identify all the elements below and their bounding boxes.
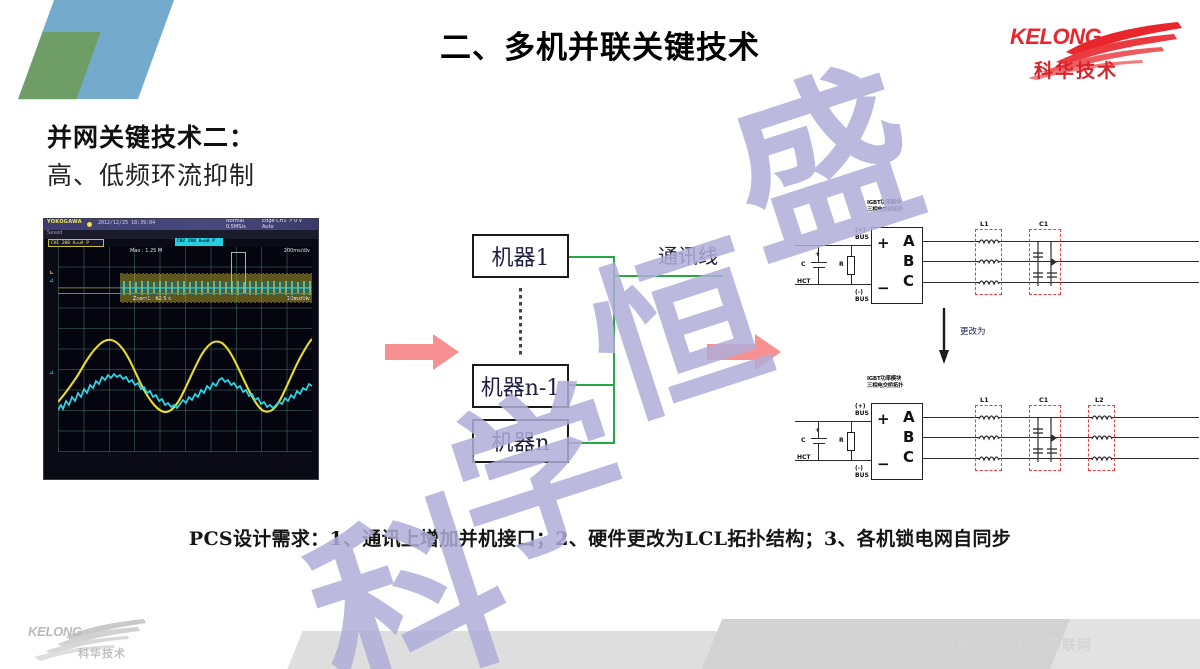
inductor-l1-label-top: L1 xyxy=(980,220,989,228)
scope-zoom-region-box xyxy=(231,252,246,294)
change-to-arrow xyxy=(938,308,954,369)
igbt-title-line1-bottom: IGBT功率模块 xyxy=(867,376,901,382)
igbt-phase-c-top: C xyxy=(903,272,914,290)
scope-datetime: 2012/12/25 18:39:04 xyxy=(98,220,155,226)
trace-zoom-window xyxy=(58,339,312,412)
bus-wire-from-boxn1 xyxy=(569,384,615,386)
footer-brand-chinese: 科华技术 xyxy=(78,645,126,661)
bus-neg-label-bottom: (-) BUS xyxy=(855,466,869,479)
machine-box-n-minus-1[interactable]: 机器n-1 xyxy=(472,364,569,408)
resistor-symbol-bottom xyxy=(847,432,855,451)
cap-stem-up-bottom xyxy=(818,421,819,438)
bus-neg-label-top: (-) BUS xyxy=(855,290,869,303)
subtitle-primary: 并网关键技术二： xyxy=(47,118,255,154)
res-stem-up-top xyxy=(851,245,852,256)
scope-vendor-label: YOKOGAWA xyxy=(47,219,82,225)
bus-wire-from-boxn xyxy=(569,442,615,444)
igbt-module-title-top: IGBT功率模块 三相电交桥拓扑 xyxy=(867,200,903,213)
bus-pos-label-bottom: (+) BUS xyxy=(855,404,869,417)
machine-box-n[interactable]: 机器n xyxy=(472,419,569,463)
brand-logo: KELONG 科华技术 xyxy=(1006,18,1182,84)
igbt-title-line2-top: 三相电交桥拓扑 xyxy=(867,207,903,213)
res-stem-up-bottom xyxy=(851,421,852,432)
igbt-phase-a-top: A xyxy=(903,232,915,250)
down-arrow-icon xyxy=(938,308,954,364)
inductor-l2-coils-bottom xyxy=(1088,405,1115,471)
igbt-phase-b-top: B xyxy=(903,252,914,270)
scope-waveform-traces xyxy=(58,247,312,452)
inductor-l1-coils-bottom xyxy=(975,405,1002,471)
dc-pos-rail-bottom xyxy=(795,421,872,422)
hct-label-top: HCT xyxy=(797,278,811,285)
bus-wire-trunk xyxy=(613,256,615,444)
igbt-minus-terminal-top: − xyxy=(877,279,890,297)
scope-status-dot-icon xyxy=(87,222,92,227)
cap-stem-down-top xyxy=(818,267,819,285)
igbt-phase-c-bottom: C xyxy=(903,448,914,466)
flow-arrow-2 xyxy=(707,333,781,371)
scope-timebase-main: 200ms/div xyxy=(284,248,310,254)
cap-label-top: C xyxy=(801,261,805,268)
scope-ch1-badge: CH1 200 A=uA P xyxy=(48,239,104,247)
scope-zoom-marker-icon: ⊿ xyxy=(49,369,54,376)
brand-word: KELONG xyxy=(1010,24,1101,50)
res-label-bottom: R xyxy=(839,437,844,444)
scope-trigger-label: Edge CH1 ↗ 0 V Auto xyxy=(262,219,302,230)
subtitle-secondary: 高、低频环流抑制 xyxy=(47,156,255,192)
scope-graticule: Max : 1.25 M 200ms/div Zoom1 : 62.5 k 10… xyxy=(58,247,312,452)
dc-pos-rail-top xyxy=(795,245,872,246)
capacitor-c1-symbols-top xyxy=(1029,229,1061,295)
scope-ch2-marker-icon: ⊿ xyxy=(49,277,54,284)
slide-footer: KELONG 科华技术 打造生态型能源互联网 xyxy=(0,613,1200,669)
oscilloscope-screenshot: YOKOGAWA 2012/12/25 18:39:04 Normal 0.5M… xyxy=(43,218,319,480)
bus-pos-label-top: (+) BUS xyxy=(855,228,869,241)
igbt-title-line2-bottom: 三相电交桥拓扑 xyxy=(867,383,903,389)
circuit-diagram-bottom: IGBT功率模块 三相电交桥拓扑 C + HCT R (+) BUS (-) B… xyxy=(795,376,1199,498)
capacitor-c1-label-bottom: C1 xyxy=(1039,396,1048,404)
cap-plate-a-top xyxy=(811,262,827,263)
scope-saved-label: Saved xyxy=(47,230,62,236)
scope-status-bar: YOKOGAWA 2012/12/25 18:39:04 Normal 0.5M… xyxy=(44,219,318,230)
cap-stem-down-bottom xyxy=(818,443,819,461)
scope-divider xyxy=(58,293,312,294)
cap-label-bottom: C xyxy=(801,437,805,444)
bus-wire-from-box1 xyxy=(569,256,615,258)
comm-line-label: 通讯线 xyxy=(658,240,718,269)
trace-main-window xyxy=(58,273,311,303)
watermark-char-1: 恒 xyxy=(556,175,794,461)
cap-plate-a-bottom xyxy=(811,438,827,439)
capacitor-c1-label-top: C1 xyxy=(1039,220,1048,228)
res-label-top: R xyxy=(839,261,844,268)
igbt-plus-terminal-top: + xyxy=(877,234,890,252)
design-requirement-caption: PCS设计需求：1、通讯上增加并机接口；2、硬件更改为LCL拓扑结构；3、各机锁… xyxy=(0,524,1200,551)
capacitor-c1-symbols-bottom xyxy=(1029,405,1061,471)
brand-chinese: 科华技术 xyxy=(1034,56,1118,83)
igbt-minus-terminal-bottom: − xyxy=(877,455,890,473)
inductor-l1-coils-top xyxy=(975,229,1002,295)
scope-timebase-zoom: 10ms/div xyxy=(287,296,310,302)
ac-line-a-bottom xyxy=(923,417,1199,418)
igbt-phase-b-bottom: B xyxy=(903,428,914,446)
footer-slogan: 打造生态型能源互联网 xyxy=(942,635,1092,655)
ac-line-c-bottom xyxy=(923,458,1199,459)
hct-label-bottom: HCT xyxy=(797,454,811,461)
scope-ch1-marker-icon: ⊾ xyxy=(49,269,54,276)
cap-stem-up-top xyxy=(818,245,819,262)
igbt-phase-a-bottom: A xyxy=(903,408,915,426)
scope-zoom-label: Zoom1 : 62.5 k xyxy=(133,296,171,302)
ac-line-a-top xyxy=(923,241,1199,242)
resistor-symbol-top xyxy=(847,256,855,275)
scope-mode-label: Normal 0.5MS/s xyxy=(226,219,246,230)
igbt-module-title-bottom: IGBT功率模块 三相电交桥拓扑 xyxy=(867,376,903,389)
igbt-title-line1-top: IGBT功率模块 xyxy=(867,200,901,206)
ac-line-b-bottom xyxy=(923,437,1199,438)
scope-max-label: Max : 1.25 M xyxy=(130,248,162,254)
ac-line-c-top xyxy=(923,282,1199,283)
circuit-diagram-top: IGBT功率模块 三相电交桥拓扑 C + HCT R (+) BUS (-) B… xyxy=(795,200,1199,322)
slide-canvas: 二、多机并联关键技术 KELONG 科华技术 并网关键技术二： 高、低频环流抑制… xyxy=(0,0,1200,669)
igbt-plus-terminal-bottom: + xyxy=(877,410,890,428)
res-stem-down-bottom xyxy=(851,451,852,461)
ac-line-b-top xyxy=(923,261,1199,262)
res-stem-down-top xyxy=(851,275,852,285)
inductor-l1-label-bottom: L1 xyxy=(980,396,989,404)
machine-box-1[interactable]: 机器1 xyxy=(472,234,569,278)
flow-arrow-1 xyxy=(385,333,459,371)
bus-wire-to-comm xyxy=(613,275,723,277)
change-to-label: 更改为 xyxy=(960,325,986,337)
scope-ch2-badge: CH2 200 A=uA P xyxy=(175,238,223,246)
inductor-l2-label-bottom: L2 xyxy=(1095,396,1104,404)
footer-band-left xyxy=(287,631,762,669)
footer-brand-word: KELONG xyxy=(28,624,82,639)
ellipsis-connector xyxy=(519,288,522,358)
watermark-overlay: 盛 恒 学 科 xyxy=(260,10,960,650)
